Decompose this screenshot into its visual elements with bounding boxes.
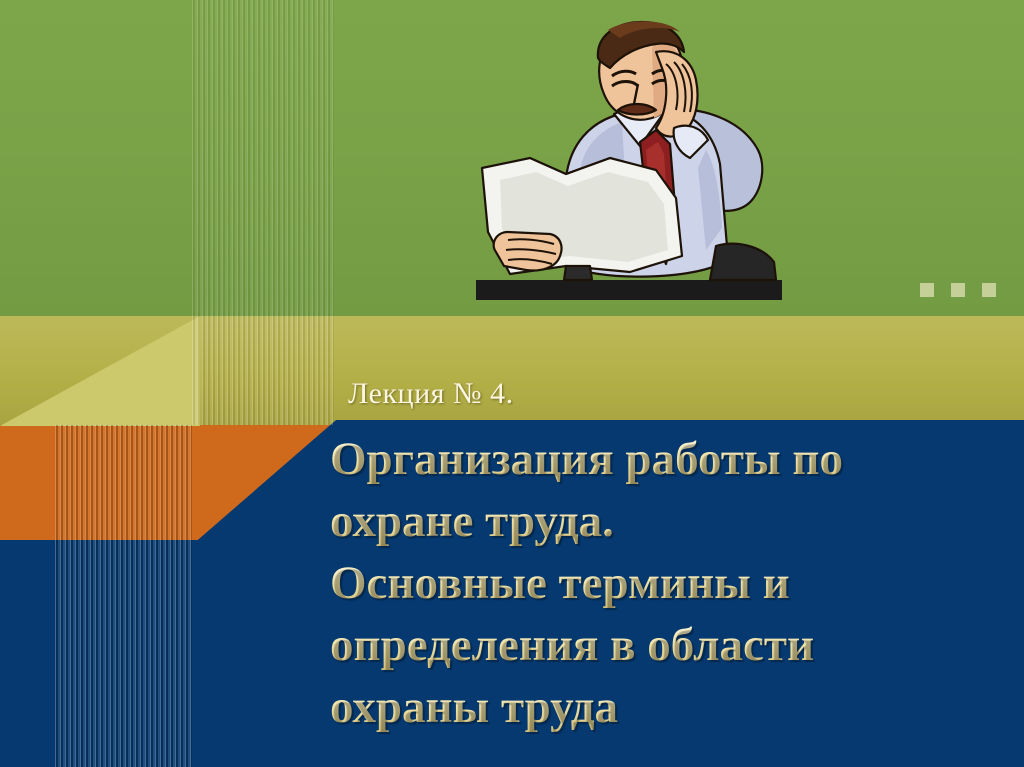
pinstripe-column-green [192,0,334,316]
presentation-slide: Лекция № 4. Организация работы по охране… [0,0,1024,767]
decorative-square-icon [951,283,965,297]
pinstripe-column-orange [55,425,192,540]
title-line: охране труда. [330,490,1020,552]
decorative-squares-group [920,283,996,297]
title-line: охраны труда [330,676,1020,738]
title-line: Организация работы по [330,428,1020,490]
stressed-office-worker-illustration [470,18,790,318]
pinstripe-column-olive [192,316,334,425]
title-line: определения в области [330,614,1020,676]
title-line: Основные термины и [330,552,1020,614]
decorative-square-icon [920,283,934,297]
decorative-square-icon [982,283,996,297]
lecture-number-label: Лекция № 4. [348,377,514,411]
pinstripe-column-blue [55,540,192,767]
slide-title: Организация работы по охране труда. Осно… [330,428,1020,738]
